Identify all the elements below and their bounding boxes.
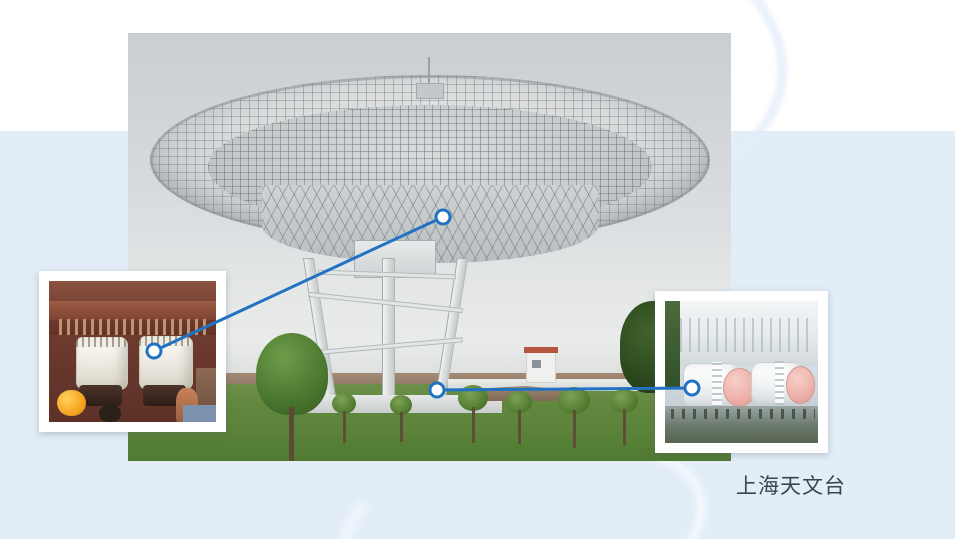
tree-crown <box>256 333 328 415</box>
inset-right-image <box>665 301 818 443</box>
bearing-assembly-after-photo[interactable] <box>655 291 828 453</box>
bearing-assembly-before-photo[interactable] <box>39 271 226 432</box>
slide-canvas: 上海天文台 <box>0 0 955 539</box>
worker-clothing <box>183 405 216 422</box>
tree-trunk <box>623 409 626 445</box>
bearing-end-cap <box>786 366 816 404</box>
building-window <box>532 360 541 368</box>
tree-trunk <box>289 407 294 461</box>
bearing-flange <box>775 361 784 405</box>
orange-hardhat <box>57 390 85 417</box>
inset-left-image <box>49 281 216 422</box>
rusty-cross-beam <box>49 301 216 320</box>
worker-figure <box>99 405 121 422</box>
tree-trunk <box>518 410 521 444</box>
tree-trunk <box>343 411 346 443</box>
base-bolt-row <box>671 409 815 419</box>
page-title: 上海天文台 <box>736 470 846 500</box>
bolt-row <box>59 319 206 335</box>
background-foliage <box>665 301 680 389</box>
tree-trunk <box>400 412 403 442</box>
bearing-flange <box>712 362 721 407</box>
structure-ribs <box>680 318 812 352</box>
tower-leg <box>382 258 395 398</box>
bearing-flange <box>76 337 126 347</box>
bearing-flange <box>139 336 191 346</box>
tree-trunk <box>573 410 576 448</box>
tree-trunk <box>472 407 475 443</box>
feed-horn <box>416 83 444 99</box>
site-building <box>526 351 556 383</box>
